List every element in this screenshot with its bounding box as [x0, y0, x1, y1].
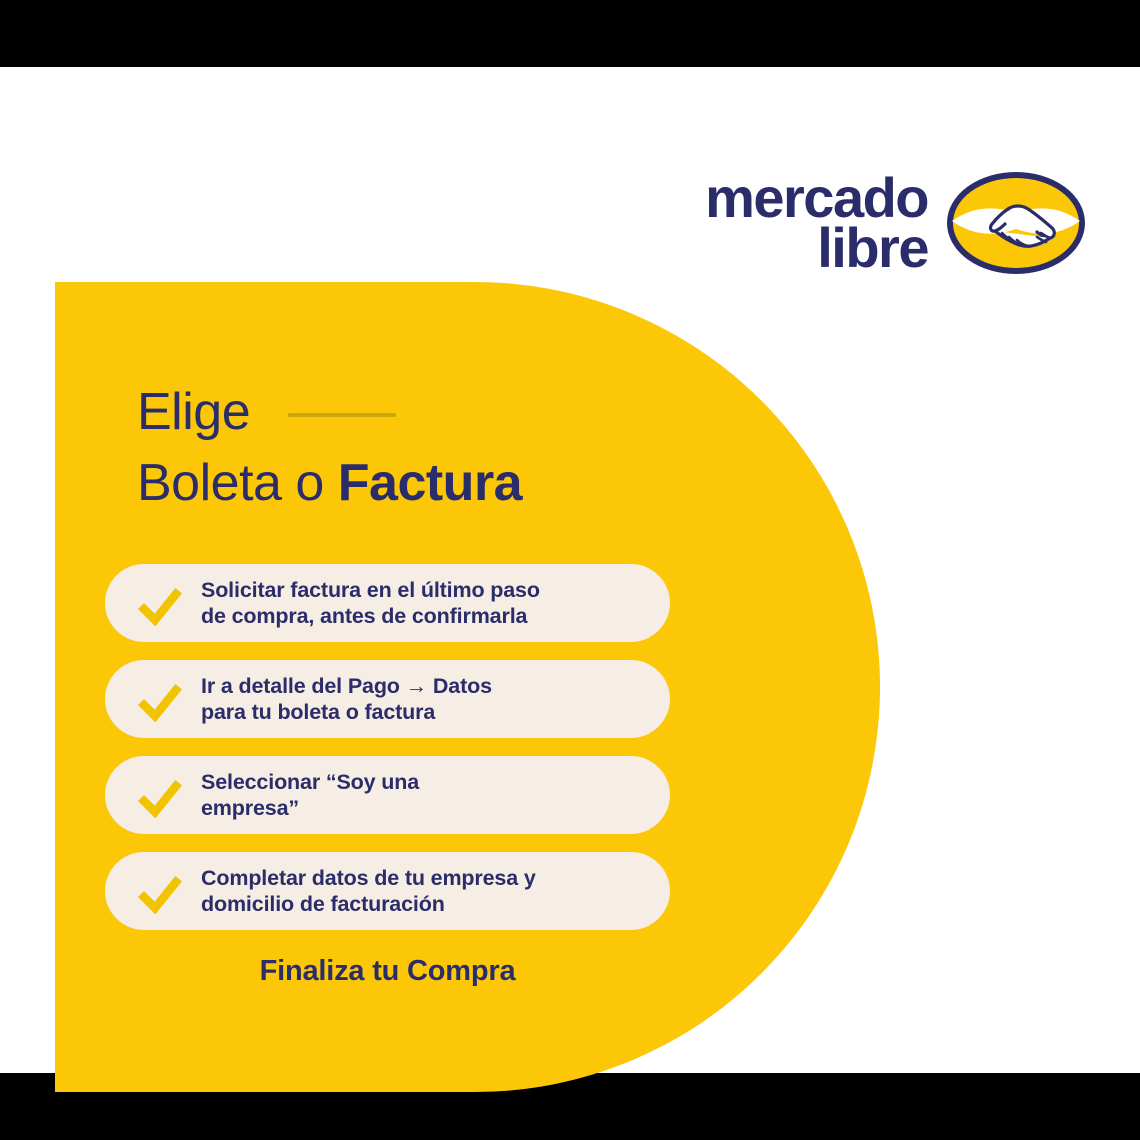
- mercadolibre-logo: mercado libre: [676, 167, 1086, 279]
- check-icon: [137, 873, 183, 919]
- checklist-item-3-text: Seleccionar “Soy una empresa”: [201, 769, 433, 821]
- checklist-item-3-line-2: empresa”: [201, 795, 419, 821]
- arrow-right-icon: →: [406, 674, 428, 698]
- check-icon: [137, 681, 183, 727]
- logo-word-mercado: mercado: [705, 174, 928, 222]
- screenshot-canvas: mercado libre Elige: [0, 0, 1140, 1140]
- check-icon: [137, 585, 183, 631]
- checklist-item-1-line-1: Solicitar factura en el último paso: [201, 577, 540, 603]
- headline-factura: Factura: [338, 454, 522, 512]
- checklist: Solicitar factura en el último paso de c…: [105, 564, 670, 930]
- headline-row-1: Elige: [137, 385, 777, 440]
- checklist-item-2[interactable]: Ir a detalle del Pago → Datos para tu bo…: [105, 660, 670, 738]
- checklist-item-3[interactable]: Seleccionar “Soy una empresa”: [105, 756, 670, 834]
- headline-boleta-o: Boleta o: [137, 454, 338, 512]
- headline-block: Elige Boleta o Factura: [137, 385, 777, 514]
- checklist-item-4[interactable]: Completar datos de tu empresa y domicili…: [105, 852, 670, 930]
- checklist-item-2-text: Ir a detalle del Pago → Datos para tu bo…: [201, 673, 506, 725]
- checklist-item-2-line-2: para tu boleta o factura: [201, 699, 492, 725]
- handshake-oval-icon: [946, 171, 1086, 275]
- checklist-item-3-line-1: Seleccionar “Soy una: [201, 769, 419, 795]
- checklist-item-2-post: Datos: [427, 674, 492, 698]
- checklist-item-1-text: Solicitar factura en el último paso de c…: [201, 577, 554, 629]
- footer-cta-text: Finaliza tu Compra: [105, 955, 670, 988]
- checklist-item-1[interactable]: Solicitar factura en el último paso de c…: [105, 564, 670, 642]
- checklist-item-2-line-1: Ir a detalle del Pago → Datos: [201, 673, 492, 699]
- checklist-item-4-line-2: domicilio de facturación: [201, 891, 536, 917]
- headline-row-2: Boleta o Factura: [137, 452, 777, 514]
- promo-card: mercado libre Elige: [0, 67, 1140, 1073]
- checklist-item-2-pre: Ir a detalle del Pago: [201, 674, 406, 698]
- checklist-item-4-line-1: Completar datos de tu empresa y: [201, 865, 536, 891]
- checklist-item-4-text: Completar datos de tu empresa y domicili…: [201, 865, 550, 917]
- logo-wordmark: mercado libre: [705, 174, 928, 272]
- checklist-item-1-line-2: de compra, antes de confirmarla: [201, 603, 540, 629]
- check-icon: [137, 777, 183, 823]
- headline-elige: Elige: [137, 385, 250, 440]
- logo-word-libre: libre: [817, 224, 928, 272]
- headline-rule-divider: [288, 413, 396, 417]
